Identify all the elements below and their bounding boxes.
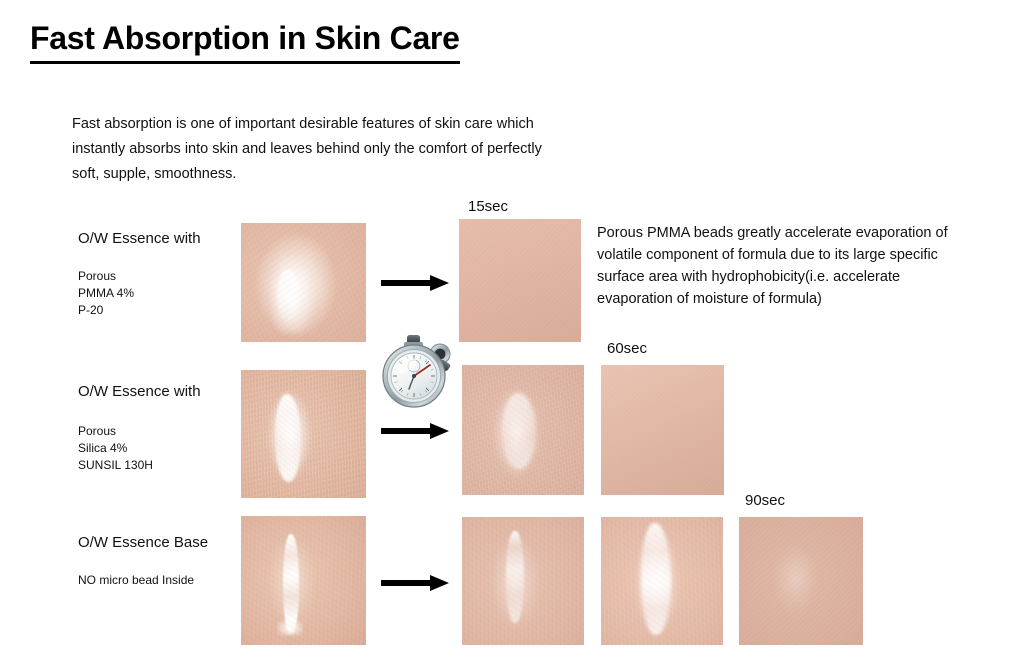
intro-line-1: Fast absorption is one of important desi… — [72, 112, 612, 137]
row-sub-base: NO micro bead Inside — [78, 572, 208, 589]
photo-base-15sec — [462, 517, 584, 645]
stopwatch-icon — [380, 334, 456, 410]
photo-silica-15sec — [462, 365, 584, 495]
photo-base-60sec — [601, 517, 723, 645]
annotation-line-1: Porous PMMA beads greatly accelerate eva… — [597, 222, 997, 244]
photo-silica-initial — [241, 370, 366, 498]
row-label-base: O/W Essence Base NO micro bead Inside — [78, 534, 208, 589]
right-arrow-icon-row3 — [381, 572, 449, 594]
right-arrow-icon-row2 — [381, 420, 449, 442]
annotation-text: Porous PMMA beads greatly accelerate eva… — [597, 222, 997, 310]
intro-line-3: soft, supple, smoothness. — [72, 162, 612, 187]
row-sub-silica-line-1: Porous — [78, 423, 201, 440]
photo-pmma-15sec — [459, 219, 581, 342]
row-sub-pmma-line-3: P-20 — [78, 302, 201, 319]
intro-line-2: instantly absorbs into skin and leaves b… — [72, 137, 612, 162]
row-sub-silica-line-3: SUNSIL 130H — [78, 457, 201, 474]
annotation-line-2: volatile component of formula due to its… — [597, 244, 997, 266]
row-sub-pmma-line-2: PMMA 4% — [78, 285, 201, 302]
row-title-pmma: O/W Essence with — [78, 230, 201, 248]
photo-base-initial — [241, 516, 366, 645]
photo-pmma-initial — [241, 223, 366, 342]
intro-paragraph: Fast absorption is one of important desi… — [72, 112, 612, 187]
annotation-line-4: evaporation of moisture of formula) — [597, 288, 997, 310]
row-label-pmma: O/W Essence with Porous PMMA 4% P-20 — [78, 230, 201, 319]
time-label-90sec: 90sec — [745, 492, 785, 509]
row-title-base: O/W Essence Base — [78, 534, 208, 552]
row-title-silica: O/W Essence with — [78, 383, 201, 401]
right-arrow-icon-row1 — [381, 272, 449, 294]
photo-base-90sec — [739, 517, 863, 645]
row-sub-pmma-line-1: Porous — [78, 268, 201, 285]
row-sub-silica: Porous Silica 4% SUNSIL 130H — [78, 423, 201, 474]
photo-silica-60sec — [601, 365, 724, 495]
row-sub-pmma: Porous PMMA 4% P-20 — [78, 268, 201, 319]
annotation-line-3: surface area with hydrophobicity(i.e. ac… — [597, 266, 997, 288]
row-sub-base-line-1: NO micro bead Inside — [78, 572, 208, 589]
row-label-silica: O/W Essence with Porous Silica 4% SUNSIL… — [78, 383, 201, 474]
slide-canvas: Fast Absorption in Skin Care Fast absorp… — [0, 0, 1018, 666]
page-title: Fast Absorption in Skin Care — [30, 20, 460, 64]
row-sub-silica-line-2: Silica 4% — [78, 440, 201, 457]
time-label-60sec: 60sec — [607, 340, 647, 357]
time-label-15sec: 15sec — [468, 198, 508, 215]
